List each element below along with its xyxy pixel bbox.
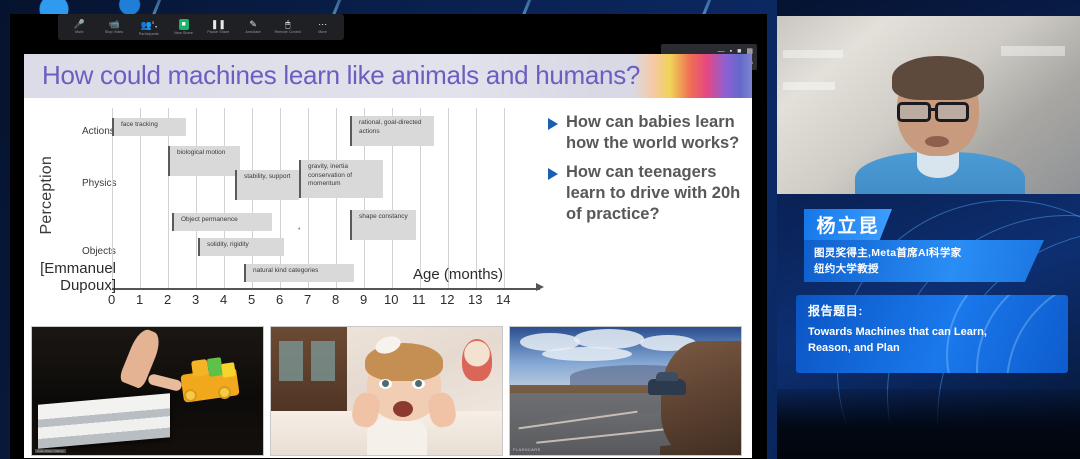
chart-bar-rational-goal-directed-actions: rational, goal-directed actions (350, 116, 434, 146)
chart-bar-object-permanence: Object permanence (172, 213, 272, 231)
slide-title-band: How could machines learn like animals an… (24, 54, 752, 98)
baby-eye (412, 379, 425, 389)
zoom-toolbar[interactable]: 🎤 Mute 📹 Stop Video 👥5▾ Participants ■ N… (58, 14, 344, 40)
cabinet-panel (279, 341, 303, 381)
participants-badge: 5 (152, 20, 154, 25)
baby-body (367, 417, 427, 456)
chart-xtick-13: 13 (468, 292, 482, 307)
slide-bullet-list: How can babies learn how the world works… (548, 112, 752, 233)
chevron-down-icon: ▾ (155, 24, 157, 29)
toolbar-button-mute[interactable]: 🎤 Mute (62, 20, 97, 34)
remote-control-icon: 🖱 (285, 20, 290, 29)
speaker-title-line-2: 纽约大学教授 (814, 261, 1034, 277)
toolbar-label-new-share: New Share (174, 31, 193, 35)
toolbar-button-pause-share[interactable]: ❚❚ Pause Share (201, 20, 236, 34)
chart-citation: [Emmanuel Dupoux] (30, 260, 116, 294)
bullet-item-2: How can teenagers learn to drive with 20… (548, 162, 752, 225)
chart-xtick-11: 11 (412, 292, 426, 307)
toolbar-label-more: More (318, 30, 327, 34)
toolbar-label-mute: Mute (75, 30, 83, 34)
chart-xtick-3: 3 (192, 292, 199, 307)
rainbow-decoration (632, 54, 752, 98)
chart-y-axis-label: Perception (38, 156, 56, 235)
toolbar-label-participants: Participants (139, 32, 159, 36)
slide-title: How could machines learn like animals an… (42, 60, 640, 91)
topic-title-line-1: Towards Machines that can Learn, (808, 324, 1056, 340)
pointing-finger (147, 373, 183, 392)
pause-icon: ❚❚ (211, 20, 226, 29)
eyeglasses-left-lens (897, 102, 931, 122)
topic-title-line-2: Reason, and Plan (808, 340, 1056, 356)
photo-watermark: FLASHCARS (513, 447, 541, 452)
speaker-mouth (925, 136, 949, 147)
bullet-item-1: How can babies learn how the world works… (548, 112, 752, 154)
pencil-icon: ✎ (249, 20, 257, 29)
toy-wheel (184, 389, 197, 402)
ellipsis-icon: ⋯ (318, 20, 327, 29)
car-roof (656, 372, 678, 381)
eyeglasses-right-lens (935, 102, 969, 122)
bullet-text-2: How can teenagers learn to drive with 20… (566, 162, 752, 225)
eyeglasses-bridge (930, 108, 936, 111)
speaker-name: 杨立昆 (816, 211, 879, 238)
chart-row-label-objects: Objects (82, 246, 116, 257)
chart-xtick-5: 5 (248, 292, 255, 307)
chart-xtick-14: 14 (496, 292, 510, 307)
speaker-video-feed[interactable] (777, 16, 1080, 194)
chart-bar-gravity-inertia-momentum: gravity, inertia conservation of momentu… (299, 160, 383, 198)
development-timeline-chart: Perception Actions Physics Objects (28, 108, 544, 323)
yellow-block (221, 362, 236, 378)
chart-x-axis-label: Age (months) (413, 266, 503, 283)
stray-mark: • (298, 226, 300, 233)
background-lamp (462, 339, 492, 381)
chart-xtick-0: 0 (108, 292, 115, 307)
toolbar-label-pause-share: Pause Share (207, 30, 229, 34)
chart-xtick-9: 9 (360, 292, 367, 307)
photo-toy-truck-pushed-off-platform: Aude Oliva / Infancy (31, 326, 264, 456)
toolbar-button-participants[interactable]: 👥5▾ Participants (132, 18, 167, 36)
baby-open-mouth (393, 401, 413, 417)
triangle-bullet-icon (548, 168, 558, 180)
chart-xtick-8: 8 (332, 292, 339, 307)
toolbar-button-new-share[interactable]: ■ New Share (166, 19, 201, 35)
cabinet-panel (311, 341, 335, 381)
toolbar-label-remote-control: Remote Control (275, 30, 302, 34)
photo-surprised-baby (270, 326, 503, 456)
chart-row-label-actions: Actions (82, 126, 115, 137)
chart-xtick-7: 7 (304, 292, 311, 307)
chart-bar-face-tracking: face tracking (112, 118, 186, 136)
speaker-panel: 杨立昆 图灵奖得主,Meta首席AI科学家 纽约大学教授 报告题目: Towar… (777, 0, 1080, 459)
foam-platform (38, 393, 170, 449)
background-shelf (783, 82, 835, 90)
toolbar-button-annotate[interactable]: ✎ Annotate (236, 20, 271, 34)
background-shelf (783, 50, 843, 58)
triangle-bullet-icon (548, 118, 558, 130)
baby-eye (379, 379, 392, 389)
chart-bar-shape-constancy: shape constancy (350, 210, 416, 240)
chart-xtick-2: 2 (164, 292, 171, 307)
background-shelf (1001, 46, 1065, 56)
chart-xtick-10: 10 (384, 292, 398, 307)
presentation-slide: How could machines learn like animals an… (24, 54, 752, 458)
chart-bar-biological-motion: biological motion (168, 146, 240, 176)
slide-photo-strip: Aude Oliva / Infancy (31, 326, 745, 456)
chart-x-axis (112, 288, 540, 290)
chart-bar-stability-support: stability, support (235, 170, 299, 200)
participants-icon: 👥5▾ (141, 18, 157, 31)
toolbar-button-remote-control[interactable]: 🖱 Remote Control (271, 20, 306, 34)
cloud (542, 347, 632, 361)
toolbar-label-annotate: Annotate (246, 30, 261, 34)
topic-heading: 报告题目: (808, 302, 1056, 319)
speaker-name-badge: 杨立昆 (804, 209, 892, 240)
chart-bar-natural-kind-categories: natural kind categories (244, 264, 354, 282)
topic-card: 报告题目: Towards Machines that can Learn, R… (796, 295, 1068, 373)
speaker-hair (892, 56, 984, 100)
chart-bar-solidity-rigidity: solidity, rigidity (198, 238, 284, 256)
chart-xtick-6: 6 (276, 292, 283, 307)
cloud (574, 329, 644, 349)
roadside-rock-face (661, 341, 742, 456)
chart-xtick-12: 12 (440, 292, 454, 307)
panel-bottom-fade (777, 389, 1080, 459)
slide-body: Perception Actions Physics Objects (24, 98, 752, 458)
screenshot-root: 🎤 Mute 📹 Stop Video 👥5▾ Participants ■ N… (0, 0, 1080, 459)
car (648, 379, 686, 395)
speaker-title-line-1: 图灵奖得主,Meta首席AI科学家 (814, 245, 1034, 261)
toolbar-label-stop-video: Stop Video (105, 30, 124, 34)
toy-wheel (218, 386, 231, 399)
video-camera-icon: 📹 (109, 20, 120, 29)
toolbar-button-stop-video[interactable]: 📹 Stop Video (97, 20, 132, 34)
speaker-title-plate: 图灵奖得主,Meta首席AI科学家 纽约大学教授 (804, 240, 1044, 282)
chart-xtick-4: 4 (220, 292, 227, 307)
microphone-icon: 🎤 (74, 20, 85, 29)
photo-car-on-mountain-road: FLASHCARS (509, 326, 742, 456)
photo-credit: Aude Oliva / Infancy (35, 449, 66, 453)
chart-x-axis-arrow (536, 283, 544, 291)
zoom-share-window: 🎤 Mute 📹 Stop Video 👥5▾ Participants ■ N… (10, 14, 767, 459)
toolbar-button-more[interactable]: ⋯ More (305, 20, 340, 34)
chart-xtick-1: 1 (136, 292, 143, 307)
bullet-text-1: How can babies learn how the world works… (566, 112, 752, 154)
share-screen-icon: ■ (179, 19, 189, 30)
